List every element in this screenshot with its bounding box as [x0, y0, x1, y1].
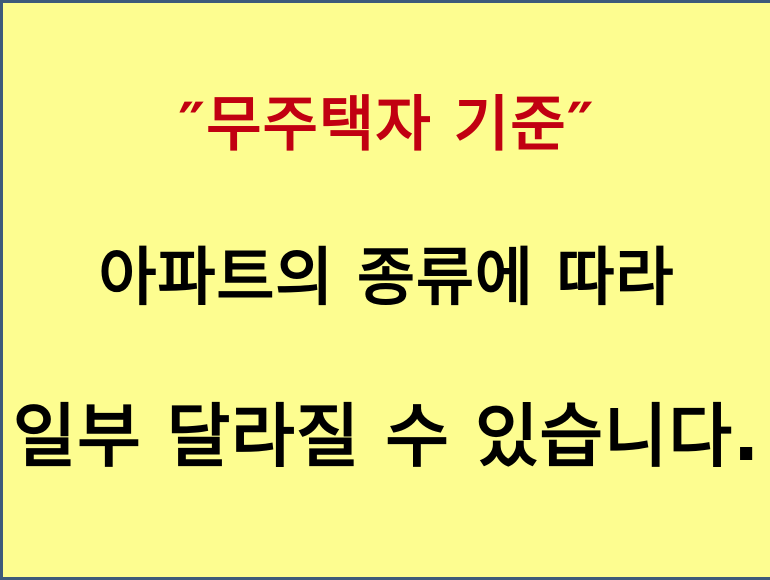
body-line-second: 일부 달라질 수 있습니다.	[3, 403, 770, 472]
headline-quoted-term: ″무주택자 기준″	[3, 95, 770, 155]
body-line-first: 아파트의 종류에 따라	[3, 246, 770, 309]
slide-canvas: ″무주택자 기준″ 아파트의 종류에 따라 일부 달라질 수 있습니다.	[0, 0, 770, 580]
